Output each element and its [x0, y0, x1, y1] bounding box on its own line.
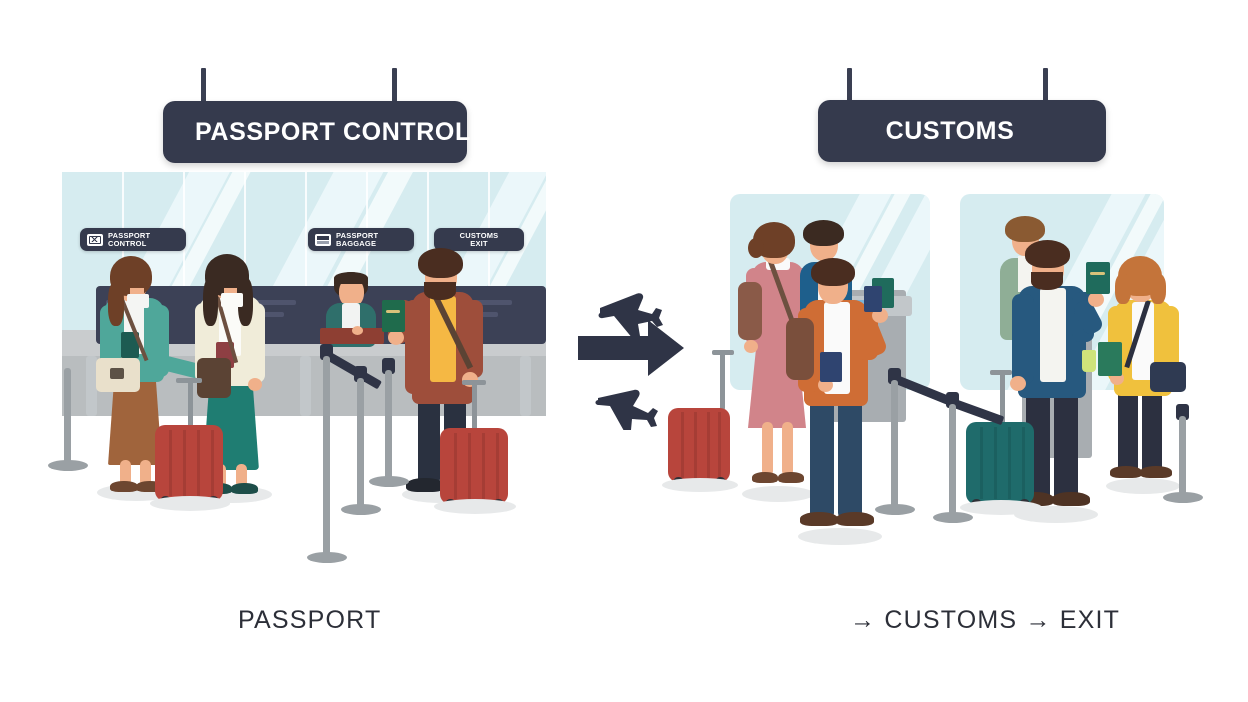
blue-passport-held	[820, 352, 842, 382]
left-counter-divider-3	[520, 356, 531, 416]
passport-icon	[87, 234, 103, 246]
handbag	[1150, 362, 1186, 392]
backpack	[786, 318, 814, 380]
mini-sign-passport-control-text: PASSPORT CONTROL	[108, 232, 150, 247]
airplane-icon	[595, 390, 658, 430]
passport-control-hanging-sign[interactable]: PASSPORT CONTROL	[163, 101, 467, 163]
illustration-canvas: PASSPORT CONTROL	[0, 0, 1248, 702]
blue-passport	[864, 286, 882, 312]
customs-hanging-sign[interactable]: CUSTOMS	[818, 100, 1106, 162]
backpack	[738, 282, 762, 340]
left-caption: PASSPORT	[238, 606, 381, 635]
drink-cup	[1082, 350, 1096, 372]
mini-sign-customs-exit-text: CUSTOMS EXIT	[441, 232, 517, 247]
mini-sign-baggage-text: PASSPORT BAGGAGE	[336, 232, 378, 247]
left-counter-divider-2	[300, 356, 311, 416]
baggage-icon	[315, 234, 331, 246]
green-passport	[382, 300, 405, 332]
green-book	[1098, 342, 1122, 376]
arrow-and-planes-svg	[570, 270, 690, 430]
green-passport	[1086, 262, 1110, 294]
shoulder-bag	[197, 358, 231, 398]
passport-control-sign-label: PASSPORT CONTROL	[195, 118, 471, 147]
right-caption: → CUSTOMS → EXIT	[850, 606, 1120, 635]
mini-sign-passport-control[interactable]: PASSPORT CONTROL	[80, 228, 186, 251]
middle-transition-group	[570, 270, 690, 430]
mini-sign-baggage[interactable]: PASSPORT BAGGAGE	[308, 228, 414, 251]
customs-sign-label: CUSTOMS	[886, 117, 1015, 146]
